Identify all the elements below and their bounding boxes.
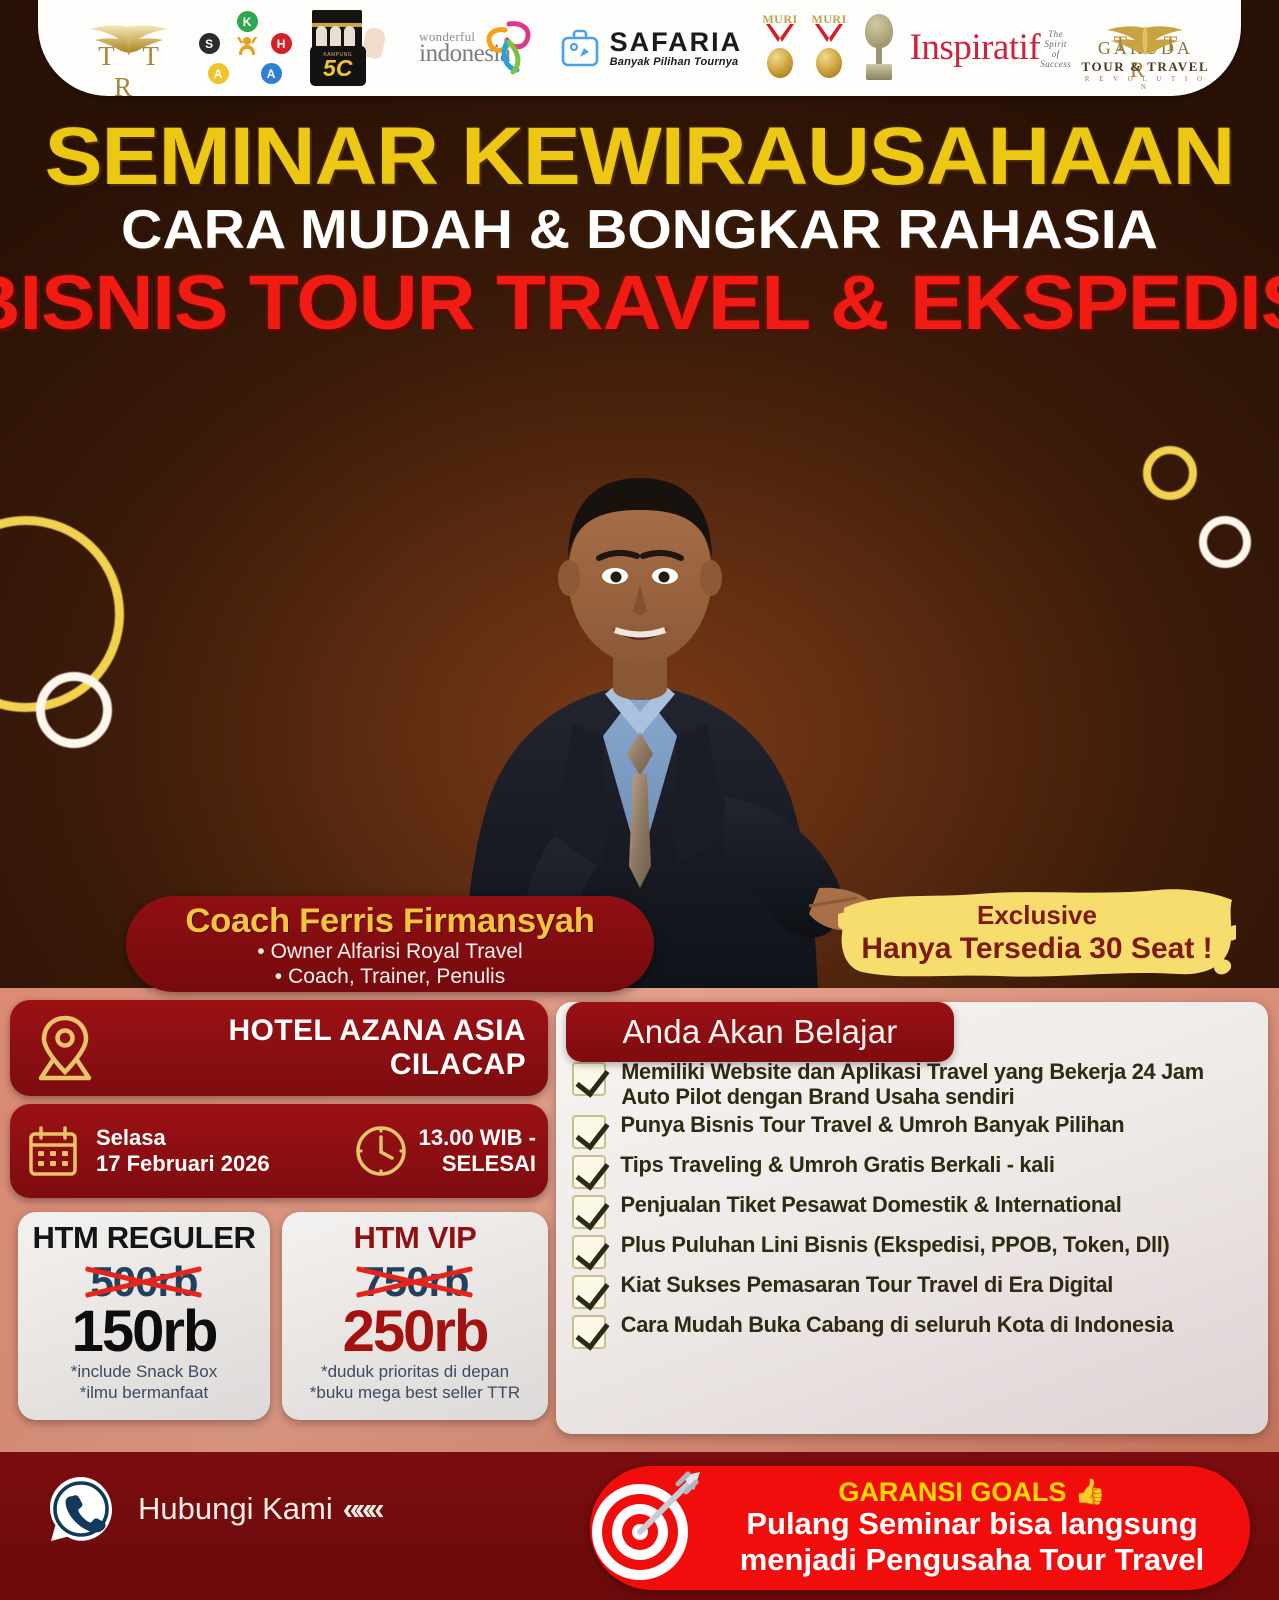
coach-name: Coach Ferris Firmansyah <box>121 904 660 939</box>
headline-line-1: SEMINAR KEWIRAUSAHAAN <box>0 118 1279 195</box>
time-text: 13.00 WIB - SELESAI <box>419 1125 548 1178</box>
exclusive-banner-text: Exclusive Hanya Tersedia 30 Seat ! <box>838 880 1236 986</box>
skaah-logo: S K H A A <box>199 11 295 85</box>
thumbs-up-icon: 👍 <box>1074 1480 1105 1505</box>
decor-circle-gold-small <box>1143 446 1197 500</box>
benefits-title: Anda Akan Belajar <box>566 1002 954 1062</box>
decor-circle-white-right <box>1199 516 1251 568</box>
garuda-ttr-logo: GARUDA T T R TOUR & TRAVEL R E V O L U T… <box>1081 9 1209 87</box>
checkmark-icon <box>572 1062 606 1096</box>
safaria-logo: SAFARIA Banyak Pilihan Tournya <box>550 26 750 70</box>
benefit-text: Tips Traveling & Umroh Gratis Berkali - … <box>620 1153 1054 1178</box>
muri-medal-2: MURI <box>810 12 848 84</box>
price-note-1: *include Snack Box <box>18 1362 270 1382</box>
date-text: Selasa 17 Februari 2026 <box>96 1125 270 1178</box>
price-old-value: 500rb <box>90 1258 197 1306</box>
price-note-2: *ilmu bermanfaat <box>18 1383 270 1403</box>
benefit-item: Punya Bisnis Tour Travel & Umroh Banyak … <box>572 1113 1256 1149</box>
skaah-letter-s: S <box>199 33 220 54</box>
whatsapp-phone-icon[interactable] <box>46 1474 116 1544</box>
clock-icon <box>352 1122 410 1180</box>
checkmark-icon <box>572 1195 606 1229</box>
benefit-text: Memiliki Website dan Aplikasi Travel yan… <box>621 1060 1253 1109</box>
kaaba-5c-logo: KAMPUNG 5C <box>306 8 380 88</box>
kaaba-5c-badge: KAMPUNG 5C <box>310 46 366 86</box>
guarantee-banner: GARANSI GOALS 👍 Pulang Seminar bisa lang… <box>590 1466 1250 1590</box>
skaah-letter-k: K <box>237 11 258 32</box>
clock-icon-wrap <box>343 1122 419 1180</box>
ttr-logo: T T R <box>70 17 188 79</box>
trophy-cup-icon <box>865 14 893 48</box>
location-pin-icon <box>29 1012 101 1084</box>
price-new-value: 250rb <box>282 1304 548 1360</box>
venue-card: HOTEL AZANA ASIA CILACAP <box>10 1000 548 1096</box>
gold-medal-icon <box>816 48 842 78</box>
guarantee-line-2: menjadi Pengusaha Tour Travel <box>712 1543 1232 1577</box>
schedule-card: Selasa 17 Februari 2026 13.00 WIB - SELE… <box>10 1104 548 1198</box>
muri-medal-1: MURI <box>761 12 799 84</box>
price-old-value: 750rb <box>361 1258 468 1306</box>
ttr-logo-text: T T R <box>70 41 188 103</box>
inspiratif-logo: Inspiratif The Spirit of Success <box>910 27 1070 69</box>
event-time-line-2: SELESAI <box>419 1151 536 1177</box>
guarantee-line-1: Pulang Seminar bisa langsung <box>712 1507 1232 1541</box>
checkmark-icon <box>572 1275 606 1309</box>
calendar-icon-wrap <box>10 1123 96 1179</box>
gold-medal-icon <box>767 48 793 78</box>
contact-block[interactable]: Hubungi Kami ««« <box>46 1474 379 1544</box>
trophy-base <box>866 64 892 80</box>
headline-line-2: CARA MUDAH & BONGKAR RAHASIA <box>0 201 1279 257</box>
headline-line-3: BISNIS TOUR TRAVEL & EKSPEDISI <box>0 265 1279 342</box>
price-card-vip[interactable]: HTM VIP 750rb 250rb *duduk prioritas di … <box>282 1212 548 1420</box>
venue-line-1: HOTEL AZANA ASIA <box>120 1014 526 1048</box>
skaah-letter-a1: A <box>208 63 229 84</box>
venue-name: HOTEL AZANA ASIA CILACAP <box>120 1014 548 1081</box>
benefit-text: Punya Bisnis Tour Travel & Umroh Banyak … <box>621 1113 1125 1138</box>
wonderful-indonesia-ribbon-icon <box>479 18 537 76</box>
benefit-item: Tips Traveling & Umroh Gratis Berkali - … <box>572 1153 1256 1189</box>
exclusive-seats-banner: Exclusive Hanya Tersedia 30 Seat ! <box>838 880 1236 986</box>
price-tier-label: HTM VIP <box>282 1220 548 1256</box>
exclusive-label: Exclusive <box>977 900 1097 931</box>
benefits-list: Memiliki Website dan Aplikasi Travel yan… <box>572 1060 1256 1349</box>
venue-line-2: CILACAP <box>120 1048 526 1082</box>
location-pin-icon-wrap <box>10 1012 120 1084</box>
suitcase-icon <box>558 26 602 70</box>
coach-role-2: •Coach, Trainer, Penulis <box>126 965 654 989</box>
medal-ribbon-icon <box>764 24 796 50</box>
coach-role-1: •Owner Alfarisi Royal Travel <box>126 940 654 964</box>
benefit-item: Penjualan Tiket Pesawat Domestik & Inter… <box>572 1193 1256 1229</box>
skaah-letter-a2: A <box>261 63 282 84</box>
event-time-line-1: 13.00 WIB - <box>419 1125 536 1151</box>
checkmark-icon <box>572 1155 606 1189</box>
price-note-2: *buku mega best seller TTR <box>282 1383 548 1403</box>
safaria-text: SAFARIA Banyak Pilihan Tournya <box>610 29 743 68</box>
date-group: Selasa 17 Februari 2026 <box>10 1123 310 1179</box>
benefit-text: Cara Mudah Buka Cabang di seluruh Kota d… <box>621 1313 1173 1338</box>
checkmark-icon <box>572 1235 606 1269</box>
time-group: 13.00 WIB - SELESAI <box>310 1122 548 1180</box>
guarantee-text-block: GARANSI GOALS 👍 Pulang Seminar bisa lang… <box>712 1479 1232 1576</box>
benefits-panel: Memiliki Website dan Aplikasi Travel yan… <box>556 1002 1268 1434</box>
benefit-text: Plus Puluhan Lini Bisnis (Ekspedisi, PPO… <box>621 1233 1170 1258</box>
benefit-text: Penjualan Tiket Pesawat Domestik & Inter… <box>621 1193 1122 1218</box>
contact-label: Hubungi Kami <box>138 1491 333 1527</box>
person-figure-icon <box>236 37 258 63</box>
seminar-poster: T T R S K H A A KAMPUNG 5C won <box>0 0 1279 1600</box>
benefit-item: Kiat Sukses Pemasaran Tour Travel di Era… <box>572 1273 1256 1309</box>
partner-logo-bar: T T R S K H A A KAMPUNG 5C won <box>38 0 1241 96</box>
benefit-item: Plus Puluhan Lini Bisnis (Ekspedisi, PPO… <box>572 1233 1256 1269</box>
calendar-icon <box>25 1123 81 1179</box>
guarantee-title: GARANSI GOALS <box>838 1479 1066 1506</box>
target-arrow-icon <box>582 1468 702 1588</box>
guarantee-title-row: GARANSI GOALS 👍 <box>712 1479 1232 1506</box>
checkmark-icon <box>572 1115 606 1149</box>
event-date: 17 Februari 2026 <box>96 1151 270 1177</box>
checkmark-icon <box>572 1315 606 1349</box>
seats-available-label: Hanya Tersedia 30 Seat ! <box>861 932 1212 966</box>
benefit-item: Memiliki Website dan Aplikasi Travel yan… <box>572 1060 1256 1109</box>
benefit-text: Kiat Sukses Pemasaran Tour Travel di Era… <box>620 1273 1113 1298</box>
wonderful-indonesia-logo: wonderful indonesia <box>391 16 539 80</box>
poster-footer: Hubungi Kami ««« GARANSI GOALS � <box>0 1452 1279 1600</box>
arrows-left-icon: ««« <box>343 1491 380 1527</box>
event-day: Selasa <box>96 1125 270 1151</box>
price-note-1: *duduk prioritas di depan <box>282 1362 548 1382</box>
trophy-stem <box>876 44 882 66</box>
price-tier-label: HTM REGULER <box>18 1220 270 1256</box>
medal-ribbon-icon <box>813 24 845 50</box>
coach-info-box: Coach Ferris Firmansyah •Owner Alfarisi … <box>126 896 654 992</box>
trophy-award <box>859 12 899 84</box>
decor-circle-white-small <box>36 672 112 748</box>
benefit-item: Cara Mudah Buka Cabang di seluruh Kota d… <box>572 1313 1256 1349</box>
price-card-reguler[interactable]: HTM REGULER 500rb 150rb *include Snack B… <box>18 1212 270 1420</box>
skaah-letter-h: H <box>271 33 292 54</box>
poster-headline: SEMINAR KEWIRAUSAHAAN CARA MUDAH & BONGK… <box>0 118 1279 342</box>
price-new-value: 150rb <box>18 1304 270 1360</box>
